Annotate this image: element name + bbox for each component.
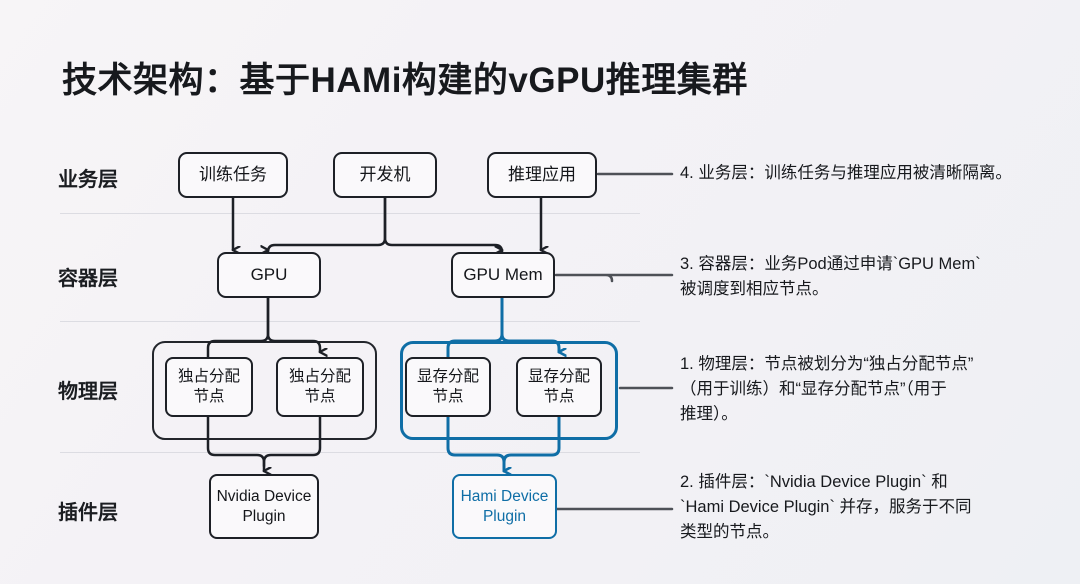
layer-label-container: 容器层	[58, 262, 118, 291]
note-business: 4. 业务层：训练任务与推理应用被清晰隔离。	[680, 161, 1012, 186]
layer-label-plugin: 插件层	[58, 496, 118, 525]
node-vmem-node-2[interactable]: 显存分配 节点	[516, 357, 602, 417]
node-exclusive-node-1[interactable]: 独占分配 节点	[165, 357, 253, 417]
node-hami-device-plugin[interactable]: Hami Device Plugin	[452, 474, 557, 539]
divider-business-container	[60, 213, 640, 214]
node-gpu-mem[interactable]: GPU Mem	[451, 252, 555, 298]
node-vmem-node-1[interactable]: 显存分配 节点	[405, 357, 491, 417]
note-physical: 1. 物理层：节点被划分为“独占分配节点” （用于训练）和“显存分配节点”（用于…	[680, 352, 973, 426]
page-title: 技术架构：基于HAMi构建的vGPU推理集群	[62, 52, 748, 103]
layer-label-physical: 物理层	[58, 375, 118, 404]
node-gpu[interactable]: GPU	[217, 252, 321, 298]
note-plugin: 2. 插件层：`Nvidia Device Plugin` 和 `Hami De…	[680, 470, 972, 544]
divider-container-physical	[60, 321, 640, 322]
node-dev-machine[interactable]: 开发机	[333, 152, 437, 198]
layer-label-business: 业务层	[58, 163, 118, 192]
node-training-job[interactable]: 训练任务	[178, 152, 288, 198]
node-nvidia-device-plugin[interactable]: Nvidia Device Plugin	[209, 474, 319, 539]
node-exclusive-node-2[interactable]: 独占分配 节点	[276, 357, 364, 417]
diagram-canvas: 技术架构：基于HAMi构建的vGPU推理集群 业务层 容器层 物理层 插件层	[0, 0, 1080, 584]
divider-physical-plugin	[60, 452, 640, 453]
note-container: 3. 容器层：业务Pod通过申请`GPU Mem` 被调度到相应节点。	[680, 252, 981, 302]
node-inference-app[interactable]: 推理应用	[487, 152, 597, 198]
